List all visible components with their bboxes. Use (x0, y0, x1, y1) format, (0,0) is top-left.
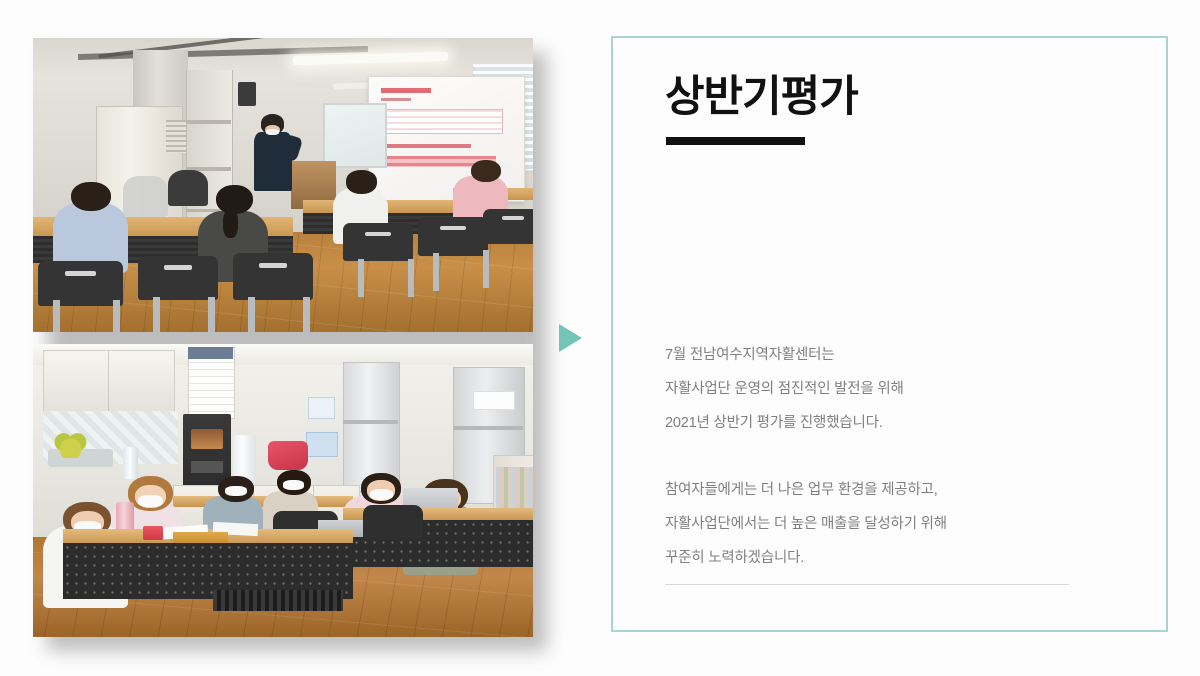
paragraph-commitment: 참여자들에게는 더 나은 업무 환경을 제공하고, 자활사업단에서는 더 높은 … (665, 473, 1095, 575)
photo-top-scene (33, 38, 533, 332)
play-triangle-right-icon (559, 324, 582, 352)
body-text-block: 7월 전남여수지역자활센터는 자활사업단 운영의 점진적인 발전을 위해 202… (665, 338, 1095, 575)
paragraph-line: 자활사업단에서는 더 높은 매출을 달성하기 위해 (665, 507, 1095, 541)
paragraph-intro: 7월 전남여수지역자활센터는 자활사업단 운영의 점진적인 발전을 위해 202… (665, 338, 1095, 440)
slide-canvas: 상반기평가 7월 전남여수지역자활센터는 자활사업단 운영의 점진적인 발전을 … (0, 0, 1200, 676)
title-underline-bar (666, 137, 805, 145)
photo-bottom (33, 344, 533, 637)
photo-bottom-scene (33, 344, 533, 637)
paragraph-line: 참여자들에게는 더 나은 업무 환경을 제공하고, (665, 473, 1095, 507)
photo-top (33, 38, 533, 332)
page-title: 상반기평가 (665, 76, 858, 119)
bottom-divider (665, 584, 1069, 585)
paragraph-line: 7월 전남여수지역자활센터는 (665, 338, 1095, 372)
paragraph-line: 2021년 상반기 평가를 진행했습니다. (665, 406, 1095, 440)
text-panel: 상반기평가 7월 전남여수지역자활센터는 자활사업단 운영의 점진적인 발전을 … (611, 36, 1168, 632)
paragraph-line: 꾸준히 노력하겠습니다. (665, 541, 1095, 575)
photo-stack (33, 38, 533, 637)
paragraph-line: 자활사업단 운영의 점진적인 발전을 위해 (665, 372, 1095, 406)
